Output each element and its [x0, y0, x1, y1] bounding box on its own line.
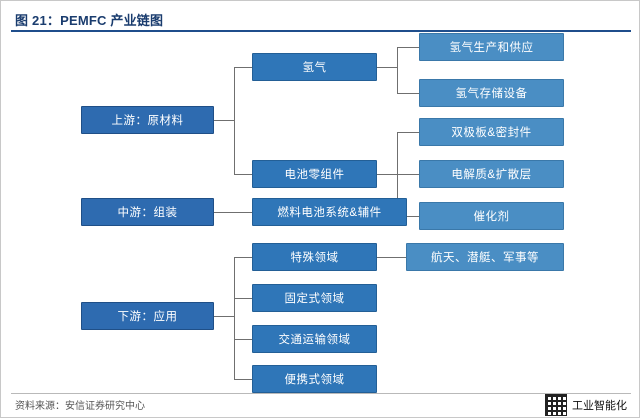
- node-midstream[interactable]: 中游：组装: [81, 198, 214, 226]
- connector-upstream-stub: [214, 120, 234, 121]
- connector-upstream-to-cellparts: [234, 174, 252, 175]
- page-title: 图 21：PEMFC 产业链图: [15, 10, 163, 29]
- badge-label: 工业智能化: [572, 397, 627, 413]
- connector-hydrogen-trunk: [397, 47, 398, 93]
- node-portable-field[interactable]: 便携式领域: [252, 365, 377, 393]
- node-cell-parts[interactable]: 电池零组件: [252, 160, 377, 188]
- connector-downstream-to-stationary: [234, 298, 252, 299]
- connector-upstream-trunk: [234, 67, 235, 174]
- figure-frame: 图 21：PEMFC 产业链图 上游：原材料 中游：组装 下游：应用 氢气 电池…: [0, 0, 640, 418]
- figure-title-bar: 图 21：PEMFC 产业链图: [11, 9, 631, 33]
- connector-midstream-to-system: [214, 212, 252, 213]
- connector-cellparts-to-bipolar: [397, 132, 419, 133]
- footer-badge: 工业智能化: [545, 394, 627, 416]
- node-hydrogen-production[interactable]: 氢气生产和供应: [419, 33, 564, 61]
- node-transport-field[interactable]: 交通运输领域: [252, 325, 377, 353]
- connector-downstream-stub: [214, 316, 234, 317]
- connector-special-to-aerospace: [377, 257, 406, 258]
- connector-hydrogen-to-production: [397, 47, 419, 48]
- source-note: 资料来源：安信证券研究中心: [15, 397, 145, 412]
- connector-downstream-trunk: [234, 257, 235, 379]
- node-special-field[interactable]: 特殊领域: [252, 243, 377, 271]
- node-downstream[interactable]: 下游：应用: [81, 302, 214, 330]
- connector-downstream-to-special: [234, 257, 252, 258]
- node-catalyst[interactable]: 催化剂: [419, 202, 564, 230]
- node-stationary-field[interactable]: 固定式领域: [252, 284, 377, 312]
- connector-cellparts-stub: [377, 174, 397, 175]
- node-bipolar-plate[interactable]: 双极板&密封件: [419, 118, 564, 146]
- connector-upstream-to-hydrogen: [234, 67, 252, 68]
- node-hydrogen-storage[interactable]: 氢气存储设备: [419, 79, 564, 107]
- connector-downstream-to-transport: [234, 339, 252, 340]
- node-fuelcell-system[interactable]: 燃料电池系统&辅件: [252, 198, 407, 226]
- connector-downstream-to-portable: [234, 379, 252, 380]
- node-upstream[interactable]: 上游：原材料: [81, 106, 214, 134]
- node-electrolyte-diffusion[interactable]: 电解质&扩散层: [419, 160, 564, 188]
- connector-cellparts-to-electrolyte: [397, 174, 419, 175]
- node-hydrogen[interactable]: 氢气: [252, 53, 377, 81]
- connector-hydrogen-stub: [377, 67, 397, 68]
- qr-code-icon: [545, 394, 567, 416]
- connector-hydrogen-to-storage: [397, 93, 419, 94]
- footer-divider: [11, 393, 631, 394]
- title-divider: [11, 30, 631, 32]
- node-aerospace-submarine-military[interactable]: 航天、潜艇、军事等: [406, 243, 564, 271]
